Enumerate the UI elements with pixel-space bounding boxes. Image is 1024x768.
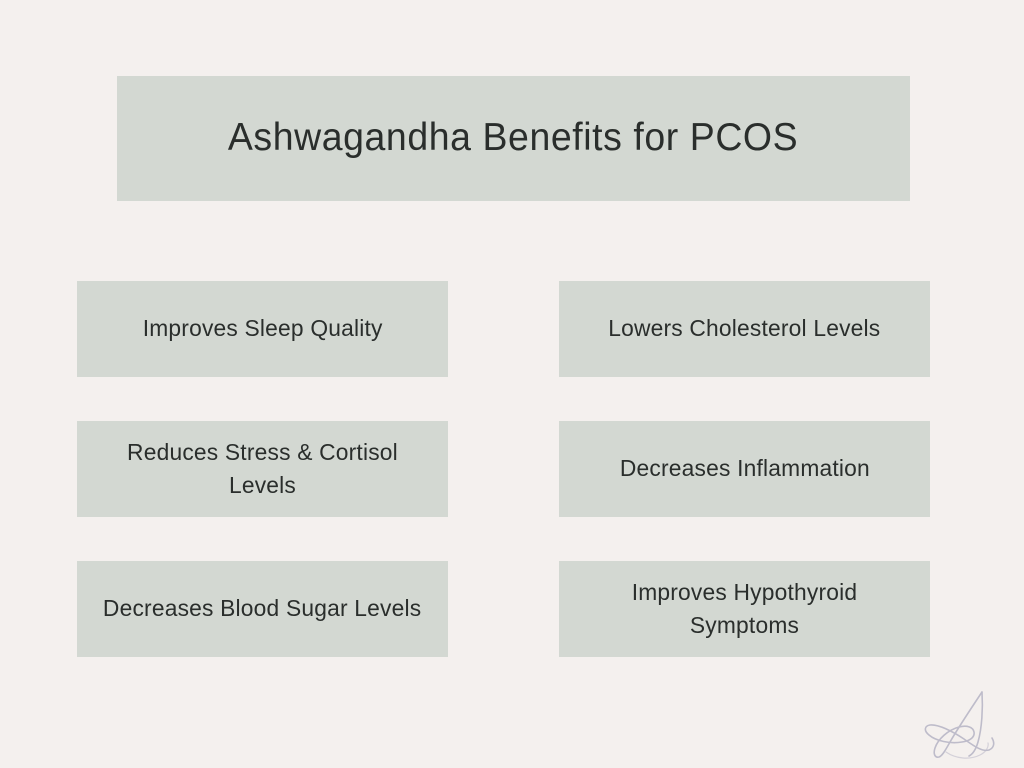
benefit-label: Lowers Cholesterol Levels (608, 312, 880, 345)
benefit-label: Reduces Stress & Cortisol Levels (96, 436, 429, 503)
infographic-slide: Ashwagandha Benefits for PCOS Improves S… (0, 0, 1024, 768)
title-banner: Ashwagandha Benefits for PCOS (117, 76, 910, 201)
benefit-label: Decreases Blood Sugar Levels (103, 592, 421, 625)
benefit-card-reduces-stress-cortisol-levels: Reduces Stress & Cortisol Levels (77, 421, 448, 517)
benefit-label: Decreases Inflammation (619, 452, 869, 485)
benefit-card-decreases-inflammation: Decreases Inflammation (559, 421, 930, 517)
page-title: Ashwagandha Benefits for PCOS (228, 116, 798, 161)
benefit-label: Improves Hypothyroid Symptoms (578, 576, 911, 643)
benefit-card-improves-hypothyroid-symptoms: Improves Hypothyroid Symptoms (559, 561, 930, 657)
benefit-card-improves-sleep-quality: Improves Sleep Quality (77, 281, 448, 377)
benefit-card-decreases-blood-sugar-levels: Decreases Blood Sugar Levels (77, 561, 448, 657)
benefit-label: Improves Sleep Quality (143, 312, 383, 345)
script-letter-a-monogram-icon (912, 686, 1008, 762)
benefits-grid: Improves Sleep Quality Lowers Cholestero… (77, 281, 930, 657)
benefit-card-lowers-cholesterol-levels: Lowers Cholesterol Levels (559, 281, 930, 377)
